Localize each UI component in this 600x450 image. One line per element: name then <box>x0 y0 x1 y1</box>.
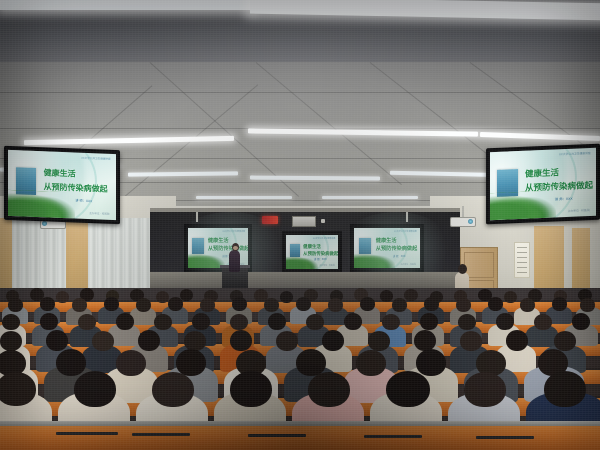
slide-footer-text: 主办单位 · 校医院 <box>400 263 416 266</box>
audience-head <box>78 314 96 330</box>
slide-header-text: XX大学公共卫生健康讲座 <box>394 230 417 233</box>
slide-title-line2: 从预防传染病做起 <box>376 246 417 253</box>
door-panel <box>464 252 494 278</box>
audience-head <box>74 371 116 407</box>
audience-head <box>404 289 418 301</box>
staff-member-head <box>458 264 467 274</box>
audience-head <box>230 330 252 351</box>
audience-head <box>92 331 114 351</box>
audience-head <box>46 330 68 351</box>
desk-cable-slot <box>248 434 306 437</box>
slide-foliage-graphic <box>490 190 556 220</box>
audience-head <box>420 313 438 330</box>
slide-footer-text: 主办单位 · 校医院 <box>89 211 109 216</box>
slide-author-text: 讲 师：XXX <box>555 195 573 201</box>
slide-header-text: XX大学公共卫生健康讲座 <box>222 230 245 233</box>
audience-head <box>386 371 430 407</box>
audience-head <box>382 314 400 330</box>
exit-sign <box>262 216 278 224</box>
desk-cable-slot <box>476 436 534 439</box>
audience-head <box>356 350 386 376</box>
audience-head <box>322 330 344 351</box>
audience-head <box>458 314 476 330</box>
audience-head <box>456 298 471 312</box>
audience-head <box>230 314 248 330</box>
audience-head <box>264 298 279 312</box>
ceiling-light-fixture <box>0 0 250 10</box>
audience-head <box>488 297 503 311</box>
audience-head <box>544 371 586 407</box>
audience-head <box>306 314 324 330</box>
ceiling-light-fixture <box>322 196 418 199</box>
projector-mount <box>406 212 408 222</box>
presenter-face <box>233 246 238 250</box>
audience-head <box>8 298 23 312</box>
audience-head <box>496 313 514 330</box>
desk-cable-slot <box>132 433 190 436</box>
audience-head <box>176 349 206 376</box>
wall-control-panel[interactable] <box>292 216 316 227</box>
slide-title-line1: 健康生活 <box>376 238 417 245</box>
audience-head <box>168 297 183 311</box>
audience-head <box>104 297 119 311</box>
audience-head <box>116 350 146 376</box>
audience-head <box>572 313 590 330</box>
audience-head <box>154 314 172 330</box>
audience-head <box>156 291 169 303</box>
wall-poster <box>514 242 530 278</box>
slide-header-text: XX大学公共卫生健康讲座 <box>313 237 336 240</box>
audience-head <box>504 291 517 303</box>
audience-head <box>552 297 567 311</box>
slide-author-text: 讲 师：XXX <box>393 254 406 258</box>
audience-head <box>380 290 393 302</box>
desk-cable-slot <box>56 432 118 435</box>
audience-head <box>308 372 350 407</box>
slide-foliage-graphic <box>354 252 395 268</box>
slide-footer-text: 主办单位 · 校医院 <box>568 208 590 213</box>
wall-mounted-tv-left: XX大学公共卫生健康讲座 健康生活 从预防传染病做起 讲 师：XXX 主办单位 … <box>4 146 120 224</box>
audience-head <box>2 314 20 330</box>
slide-title-line1: 健康生活 <box>208 238 245 245</box>
audience-head <box>56 349 86 376</box>
audience-head <box>460 331 482 351</box>
projection-screen-center: XX大学公共卫生健康讲座 健康生活 从预防传染病做起 讲 师：XXX 主办单位 … <box>282 231 342 273</box>
audience-head <box>152 372 194 407</box>
slide-content: XX大学公共卫生健康讲座 健康生活 从预防传染病做起 讲 师：XXX 主办单位 … <box>286 235 338 269</box>
slide-header-text: XX大学公共卫生健康讲座 <box>559 151 591 156</box>
audience-head <box>230 371 272 407</box>
ceiling-light-fixture <box>196 196 292 199</box>
audience-head <box>56 291 69 303</box>
audience-head <box>506 330 528 351</box>
wall-control-indicator <box>321 219 325 223</box>
audience-head <box>280 291 293 303</box>
audience-head <box>180 289 193 301</box>
audience-head <box>534 314 552 330</box>
slide-content: XX大学公共卫生健康讲座 健康生活 从预防传染病做起 讲 师：XXX 主办单位 … <box>8 150 116 220</box>
audience-head <box>72 298 87 312</box>
audience-head <box>268 313 286 330</box>
audience-head <box>360 297 375 311</box>
audience-head <box>276 331 298 351</box>
projection-screen-right: XX大学公共卫生健康讲座 健康生活 从预防传染病做起 讲 师：XXX 主办单位 … <box>350 224 424 272</box>
desk-cable-slot <box>364 435 422 438</box>
audience-head <box>200 298 215 312</box>
projector-lens <box>468 219 473 224</box>
audience-head <box>392 298 407 312</box>
slide-content: XX大学公共卫生健康讲座 健康生活 从预防传染病做起 讲 师：XXX 主办单位 … <box>490 148 596 220</box>
audience-head <box>368 331 390 351</box>
slide-content: XX大学公共卫生健康讲座 健康生活 从预防传染病做起 讲 师：XXX 主办单位 … <box>354 228 420 268</box>
slide-title-line1: 健康生活 <box>303 244 335 250</box>
slide-title-line1: 健康生活 <box>525 166 591 180</box>
slide-title-line2: 从预防传染病做起 <box>525 180 591 194</box>
audience-head <box>40 313 58 330</box>
projector-mount <box>196 212 198 222</box>
slide-author-text: 讲 师：XXX <box>75 198 92 204</box>
audience-head <box>184 331 206 351</box>
presenter-body <box>229 250 240 272</box>
audience-head <box>464 372 506 407</box>
slide-author-text: 讲 师：XXX <box>314 257 327 261</box>
audience-head <box>328 298 343 312</box>
audience-head <box>232 297 247 311</box>
audience-head <box>344 313 362 330</box>
audience-head <box>192 313 210 330</box>
slide-foliage-graphic <box>8 190 75 219</box>
projector-lens <box>42 221 47 226</box>
audience-head <box>40 297 55 311</box>
wall-mounted-tv-right: XX大学公共卫生健康讲座 健康生活 从预防传染病做起 讲 师：XXX 主办单位 … <box>486 144 600 225</box>
audience-head <box>424 297 439 311</box>
audience-head <box>520 298 535 312</box>
audience-head <box>296 297 311 311</box>
audience-head <box>138 330 160 351</box>
audience-head <box>580 298 595 312</box>
audience-head <box>554 331 576 351</box>
audience-head <box>0 372 36 406</box>
lecture-hall-photo: XX大学公共卫生健康讲座 健康生活 从预防传染病做起 讲 师：XXX 主办单位 … <box>0 0 600 450</box>
audience-head <box>416 349 446 376</box>
audience-head <box>0 331 22 351</box>
audience-head <box>136 298 151 312</box>
audience-head <box>116 313 134 330</box>
audience-head <box>414 330 436 351</box>
foreground-desk-edge <box>0 421 600 426</box>
slide-footer-text: 主办单位 · 校医院 <box>319 264 335 267</box>
slide-title-line2: 从预防传染病做起 <box>303 251 335 257</box>
